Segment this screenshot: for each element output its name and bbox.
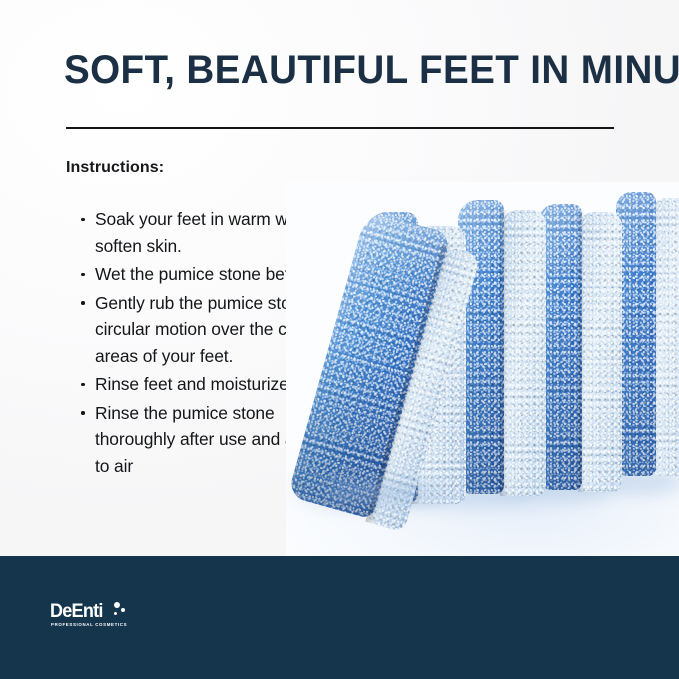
logo-tagline: PROFESSIONAL COSMETICS: [51, 622, 127, 627]
bubble-icon: [114, 612, 117, 615]
contact-shadow: [316, 482, 446, 504]
logo-group: DeEnti PROFESSIONAL COSMETICS: [50, 601, 134, 631]
product-photo: [286, 182, 679, 556]
stone-dark-layer: [616, 192, 656, 476]
infographic-page: SOFT, BEAUTIFUL FEET IN MINUTES Instruct…: [0, 0, 679, 679]
stone-light-layer: [500, 210, 546, 496]
stone-light-layer: [578, 212, 622, 492]
instructions-heading: Instructions:: [66, 159, 164, 177]
stone-light-layer: [652, 198, 679, 476]
pumice-stone: [616, 192, 679, 482]
bubble-icon: [121, 608, 125, 612]
logo-wordmark: DeEnti: [50, 601, 103, 623]
bubble-icon: [114, 602, 120, 608]
title-divider: [66, 127, 614, 129]
brand-logo: [0, 556, 84, 586]
pumice-stone: [538, 204, 622, 492]
page-title: SOFT, BEAUTIFUL FEET IN MINUTES: [64, 49, 614, 91]
